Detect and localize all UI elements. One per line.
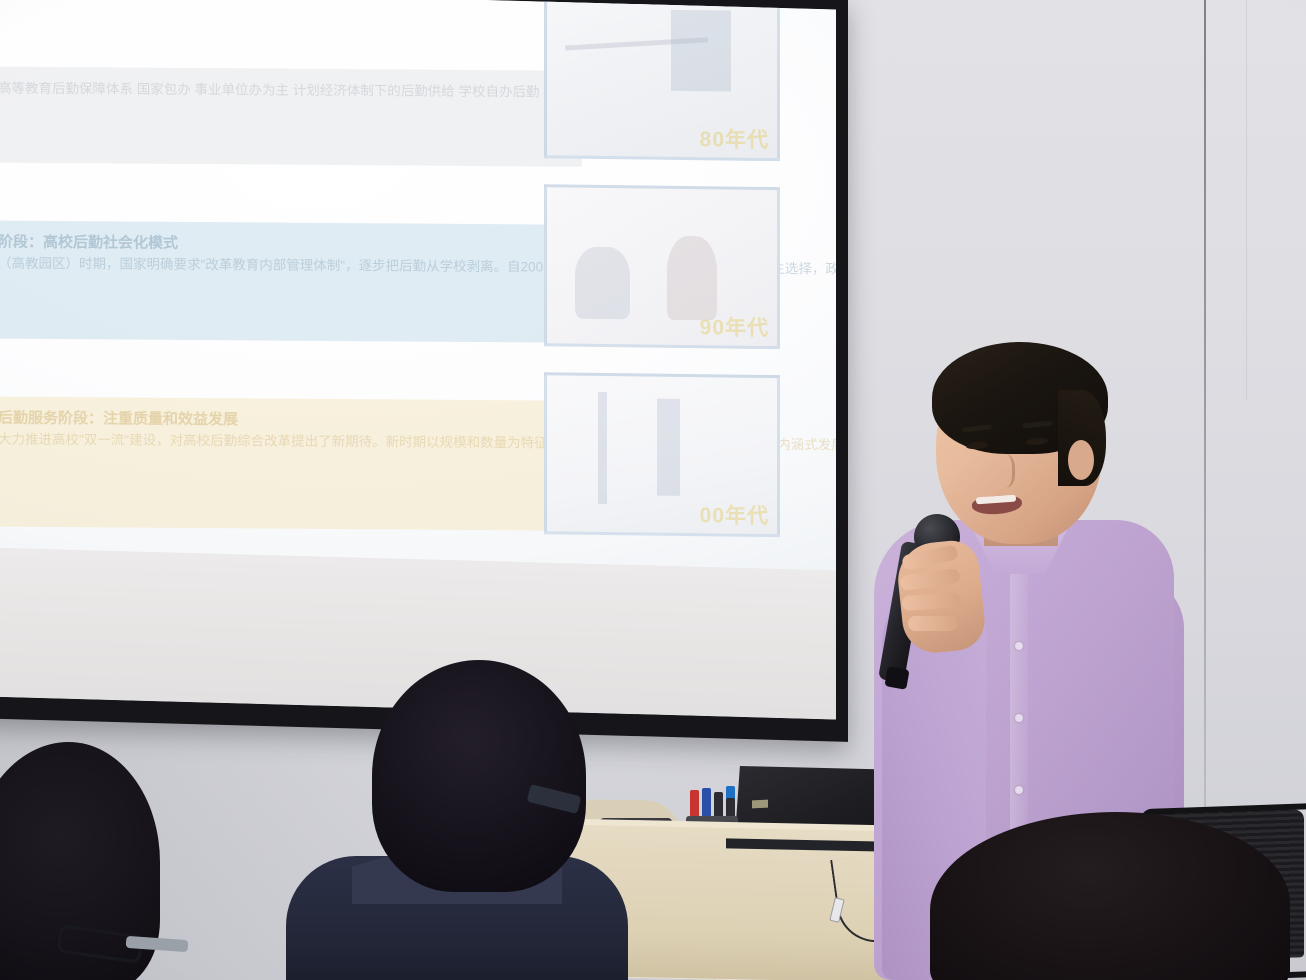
slide-band-cream-heading: 后勤服务阶段：注重质量和效益发展	[0, 407, 564, 432]
projector-screen-surface: 程 高等教育后勤保障体系 国家包办 事业单位办为主 计划经济体制下的后勤供给 学…	[0, 0, 836, 720]
slide-band-gray: 高等教育后勤保障体系 国家包办 事业单位办为主 计划经济体制下的后勤供给 学校自…	[0, 66, 582, 167]
marker-black-2	[726, 798, 735, 818]
slide-band-blue-heading: 阶段：高校后勤社会化模式	[0, 231, 564, 256]
decade-label-2000s: 00年代	[700, 499, 769, 530]
speaker-finger-4	[908, 616, 958, 631]
projector-screen-frame: 程 高等教育后勤保障体系 国家包办 事业单位办为主 计划经济体制下的后勤供给 学…	[0, 0, 848, 742]
slide-band-cream-body: 大力推进高校"双一流"建设，对高校后勤综合改革提出了新期待。新时期以规模和数量为…	[0, 431, 564, 453]
decade-label-1980s: 80年代	[700, 123, 769, 154]
laptop-badge	[752, 800, 768, 809]
speaker-nose	[992, 454, 1015, 488]
microphone-tip	[884, 666, 909, 690]
shirt-button-3	[1015, 786, 1023, 794]
wall-panel-seam-secondary	[1246, 0, 1247, 400]
slide-photo-1980s: 80年代	[544, 0, 780, 161]
lecture-room-photo: 程 高等教育后勤保障体系 国家包办 事业单位办为主 计划经济体制下的后勤供给 学…	[0, 0, 1306, 980]
shirt-button-2	[1015, 714, 1023, 722]
speaker-ear	[1068, 440, 1094, 480]
slide-band-cream: 后勤服务阶段：注重质量和效益发展 大力推进高校"双一流"建设，对高校后勤综合改革…	[0, 396, 582, 531]
slide-photo-2000s: 00年代	[544, 372, 780, 537]
slide-band-blue-body: （高教园区）时期，国家明确要求"改革教育内部管理体制"，逐步把后勤从学校剥离。自…	[0, 255, 564, 277]
slide-band-blue: 阶段：高校后勤社会化模式 （高教园区）时期，国家明确要求"改革教育内部管理体制"…	[0, 220, 582, 343]
audience-member-center-head	[372, 660, 586, 892]
marker-blue	[702, 788, 711, 818]
slide-photo-column: 80年代 90年代 00年代	[544, 0, 780, 563]
wall-panel-seam	[1204, 0, 1206, 820]
decade-label-1990s: 90年代	[700, 311, 769, 342]
presentation-slide: 程 高等教育后勤保障体系 国家包办 事业单位办为主 计划经济体制下的后勤供给 学…	[0, 0, 836, 569]
shirt-button-1	[1015, 642, 1023, 650]
slide-band-gray-body: 高等教育后勤保障体系 国家包办 事业单位办为主 计划经济体制下的后勤供给 学校自…	[0, 80, 564, 102]
slide-photo-1990s: 90年代	[544, 184, 780, 349]
